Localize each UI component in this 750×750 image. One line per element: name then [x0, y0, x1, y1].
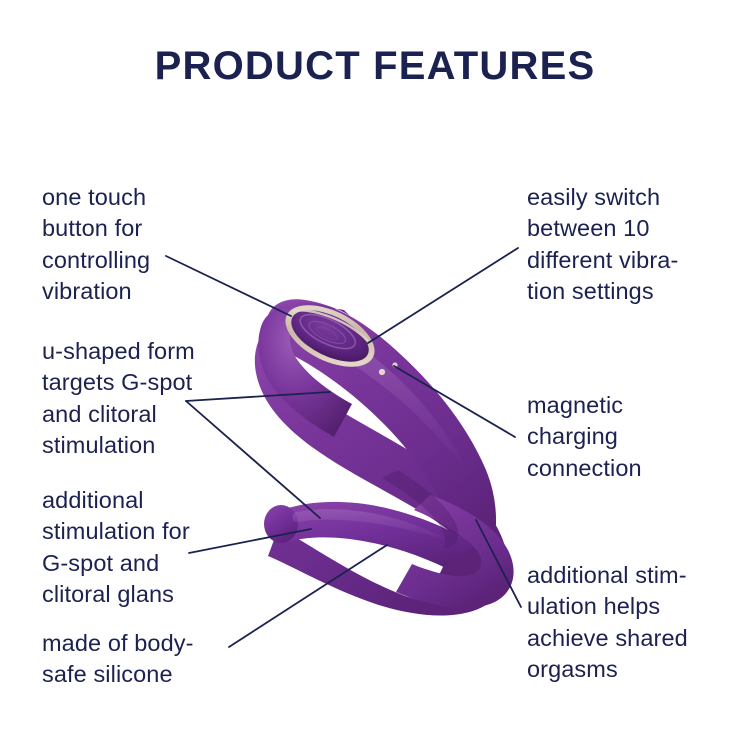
product-illustration: [0, 0, 750, 750]
product-body: [255, 299, 514, 615]
infographic-page: PRODUCT FEATURES: [0, 0, 750, 750]
